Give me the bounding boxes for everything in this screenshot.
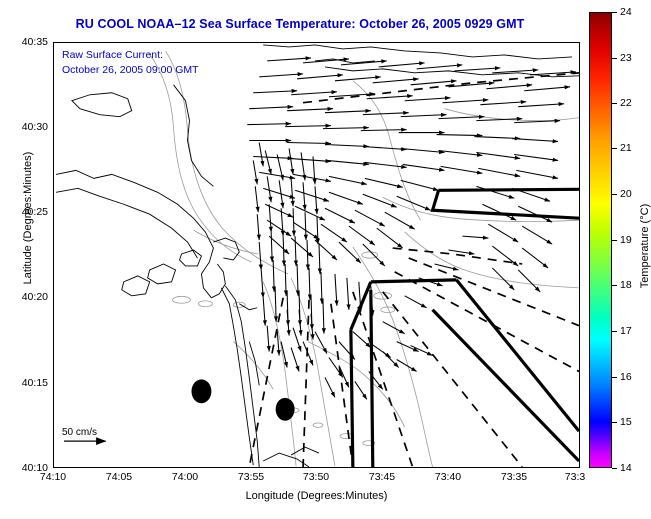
colorbar-tick-17 bbox=[612, 331, 617, 332]
xtick-5: 73:45 bbox=[369, 471, 395, 483]
ytick-4: 40:15 bbox=[8, 377, 48, 389]
page-title: RU COOL NOAA–12 Sea Surface Temperature:… bbox=[0, 17, 600, 31]
ytick-5: 40:10 bbox=[8, 462, 48, 474]
x-axis-label: Longitude (Degrees:Minutes) bbox=[53, 490, 580, 502]
radar-stations bbox=[191, 379, 294, 420]
coastline bbox=[56, 45, 579, 467]
colorbar-label-19: 19 bbox=[620, 234, 632, 246]
annotation-line-2: October 26, 2005 09:00 GMT bbox=[62, 63, 199, 78]
colorbar-label-20: 20 bbox=[620, 188, 632, 200]
colorbar-label-23: 23 bbox=[620, 52, 632, 64]
scale-bar-label: 50 cm/s bbox=[62, 427, 97, 438]
colorbar bbox=[589, 12, 612, 468]
xtick-1: 74:05 bbox=[106, 471, 132, 483]
colorbar-tick-18 bbox=[612, 285, 617, 286]
map-vector-canvas bbox=[54, 43, 579, 467]
colorbar-tick-19 bbox=[612, 240, 617, 241]
colorbar-tick-24 bbox=[612, 12, 617, 13]
colorbar-axis-label: Temperature (°C) bbox=[639, 146, 651, 346]
radar-coverage-sectors bbox=[351, 189, 579, 467]
xtick-6: 73:40 bbox=[435, 471, 461, 483]
ytick-0: 40:35 bbox=[8, 36, 48, 48]
colorbar-tick-14 bbox=[612, 468, 617, 469]
colorbar-tick-16 bbox=[612, 377, 617, 378]
colorbar-label-22: 22 bbox=[620, 97, 632, 109]
xtick-2: 74:00 bbox=[172, 471, 198, 483]
colorbar-label-15: 15 bbox=[620, 416, 632, 428]
colorbar-label-16: 16 bbox=[620, 371, 632, 383]
bathymetry-contours bbox=[149, 51, 579, 467]
colorbar-label-14: 14 bbox=[620, 462, 632, 474]
xtick-3: 73:55 bbox=[238, 471, 264, 483]
colorbar-tick-22 bbox=[612, 103, 617, 104]
colorbar-tick-20 bbox=[612, 194, 617, 195]
map-plot-area[interactable]: Raw Surface Current: October 26, 2005 09… bbox=[53, 42, 580, 468]
annotation-line-1: Raw Surface Current: bbox=[62, 48, 163, 63]
colorbar-tick-23 bbox=[612, 58, 617, 59]
colorbar-label-17: 17 bbox=[620, 325, 632, 337]
colorbar-tick-15 bbox=[612, 422, 617, 423]
colorbar-tick-21 bbox=[612, 148, 617, 149]
colorbar-label-18: 18 bbox=[620, 279, 632, 291]
current-vectors bbox=[247, 58, 576, 399]
xtick-4: 73:50 bbox=[303, 471, 329, 483]
y-axis-label: Latitude (Degrees:Minutes) bbox=[22, 98, 34, 338]
colorbar-label-24: 24 bbox=[620, 6, 632, 18]
colorbar-label-21: 21 bbox=[620, 142, 632, 154]
xtick-7: 73:35 bbox=[501, 471, 527, 483]
xtick-8: 73:3 bbox=[565, 471, 585, 483]
